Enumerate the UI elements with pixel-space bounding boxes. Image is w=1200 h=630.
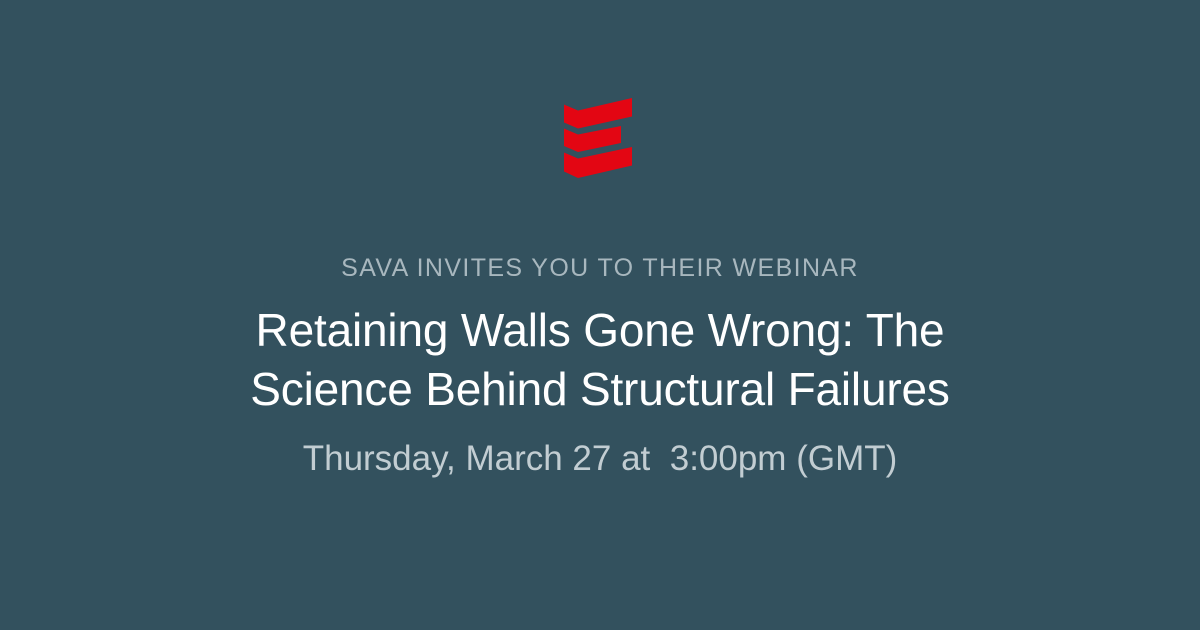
- sava-e-logo-icon: [564, 98, 636, 178]
- invite-eyebrow: SAVA INVITES YOU TO THEIR WEBINAR: [341, 252, 859, 284]
- webinar-datetime: Thursday, March 27 at 3:00pm (GMT): [303, 419, 898, 481]
- webinar-invite-card: SAVA INVITES YOU TO THEIR WEBINAR Retain…: [0, 0, 1200, 630]
- webinar-title: Retaining Walls Gone Wrong: The Science …: [205, 284, 995, 419]
- invite-content: SAVA INVITES YOU TO THEIR WEBINAR Retain…: [0, 252, 1200, 481]
